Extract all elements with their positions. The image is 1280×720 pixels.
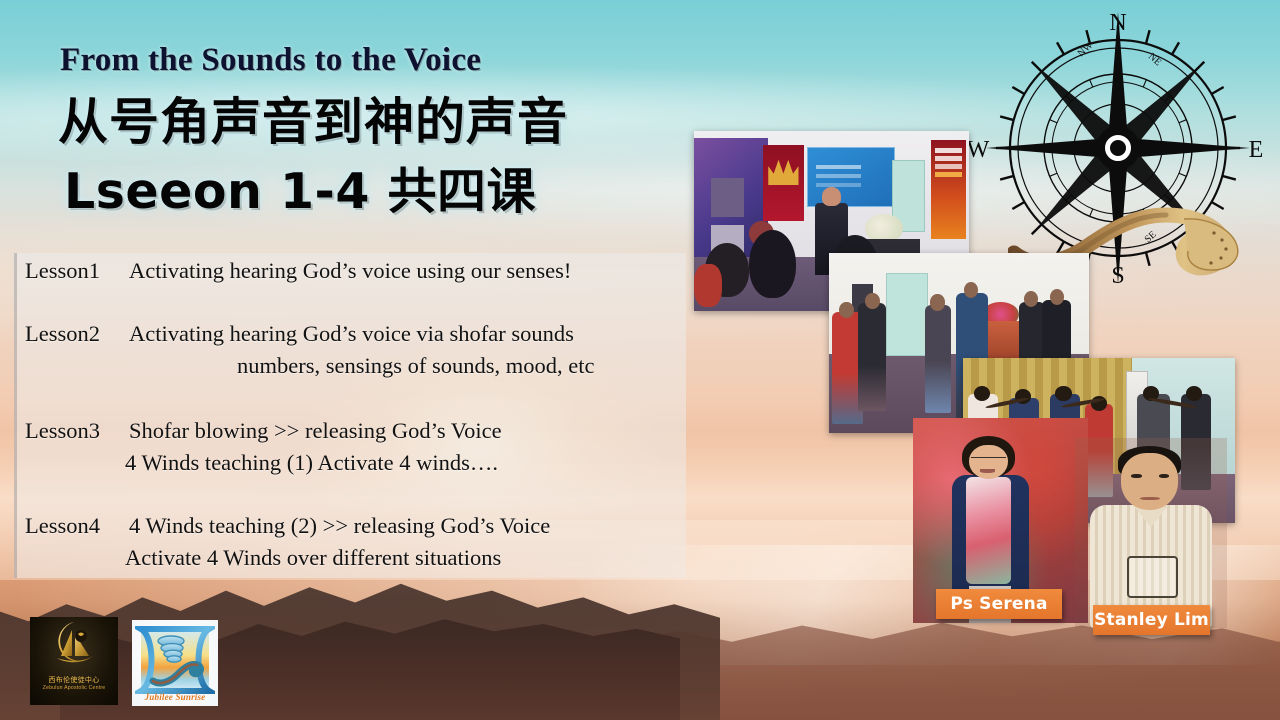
- title-chinese: 从号角声音到神的声音: [58, 82, 568, 154]
- logo-zebulun-chinese: 西布伦使徒中心: [30, 675, 118, 685]
- logo-jubilee-sunrise: Jubilee Sunrise: [132, 620, 218, 706]
- name-badge-ps-serena: Ps Serena: [936, 589, 1062, 619]
- presentation-slide: From the Sounds to the Voice 从号角声音到神的声音 …: [0, 0, 1280, 720]
- lesson-list-panel: Lesson1Activating hearing God’s voice us…: [14, 253, 686, 578]
- title-english: From the Sounds to the Voice: [60, 42, 481, 79]
- compass-label-west: W: [968, 137, 990, 163]
- compass-label-north: N: [1109, 10, 1126, 36]
- lesson-subtext: numbers, sensings of sounds, mood, etc: [25, 353, 594, 379]
- lesson-text: Activating hearing God’s voice via shofa…: [129, 321, 574, 346]
- compass-label-northeast: NE: [1146, 51, 1163, 68]
- lesson-text: Activating hearing God’s voice using our…: [129, 258, 571, 283]
- lesson-label: Lesson3: [25, 418, 129, 444]
- lesson-text: Shofar blowing >> releasing God’s Voice: [129, 418, 502, 443]
- logo-jubilee-text: Jubilee Sunrise: [132, 692, 218, 702]
- zebulun-emblem-icon: [45, 618, 103, 668]
- lesson-item: Lesson2Activating hearing God’s voice vi…: [25, 321, 574, 347]
- lesson-label: Lesson2: [25, 321, 129, 347]
- lesson-item: Lesson1Activating hearing God’s voice us…: [25, 258, 571, 284]
- lesson-subtext: 4 Winds teaching (1) Activate 4 winds….: [25, 450, 498, 476]
- compass-label-east: E: [1249, 137, 1264, 163]
- lesson-subtext: Activate 4 Winds over different situatio…: [25, 545, 501, 571]
- lesson-label: Lesson4: [25, 513, 129, 539]
- title-lesson-range: Lseeon 1-4 共四课: [64, 152, 536, 223]
- lesson-text: 4 Winds teaching (2) >> releasing God’s …: [129, 513, 550, 538]
- portrait-stanley-lim: [1075, 438, 1227, 628]
- lesson-label: Lesson1: [25, 258, 129, 284]
- logo-zebulun-english: Zebulun Apostolic Centre: [30, 685, 118, 691]
- name-badge-stanley-lim: Stanley Lim: [1093, 605, 1210, 635]
- logo-zebulun-apostolic-centre: 西布伦使徒中心 Zebulun Apostolic Centre: [30, 617, 118, 705]
- lesson-item: Lesson44 Winds teaching (2) >> releasing…: [25, 513, 550, 539]
- jubilee-sunrise-emblem-icon: [135, 623, 215, 703]
- lesson-item: Lesson3Shofar blowing >> releasing God’s…: [25, 418, 502, 444]
